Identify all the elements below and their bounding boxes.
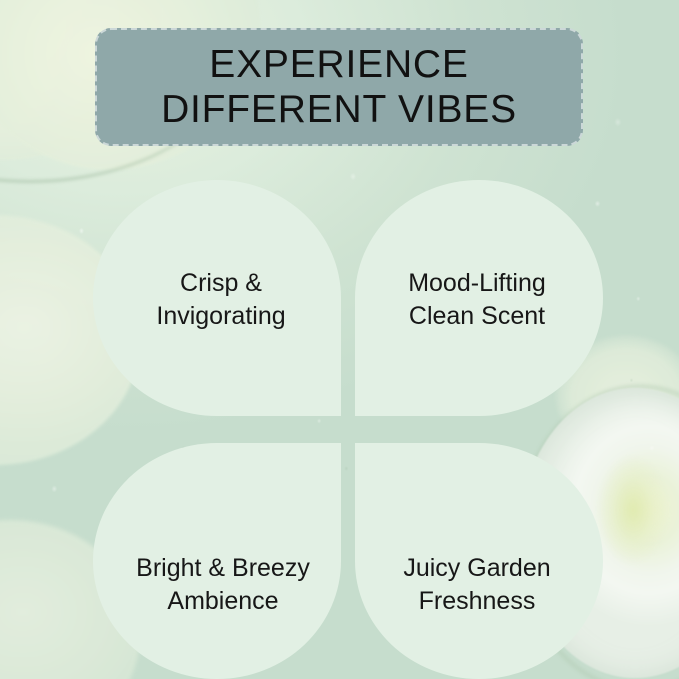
petal-grid: Crisp & Invigorating Mood-Lifting Clean … [0,0,679,679]
petal-bottom-left: Bright & Breezy Ambience [93,443,341,679]
petal-top-left: Crisp & Invigorating [93,180,341,416]
petal-label-bottom-right: Juicy Garden Freshness [403,552,550,618]
petal-bottom-right: Juicy Garden Freshness [355,443,603,679]
petal-label-top-left: Crisp & Invigorating [156,267,285,333]
petal-top-right: Mood-Lifting Clean Scent [355,180,603,416]
petal-label-bottom-left: Bright & Breezy Ambience [136,552,310,618]
petal-label-top-right: Mood-Lifting Clean Scent [408,267,546,333]
infographic-canvas: EXPERIENCE DIFFERENT VIBES Crisp & Invig… [0,0,679,679]
